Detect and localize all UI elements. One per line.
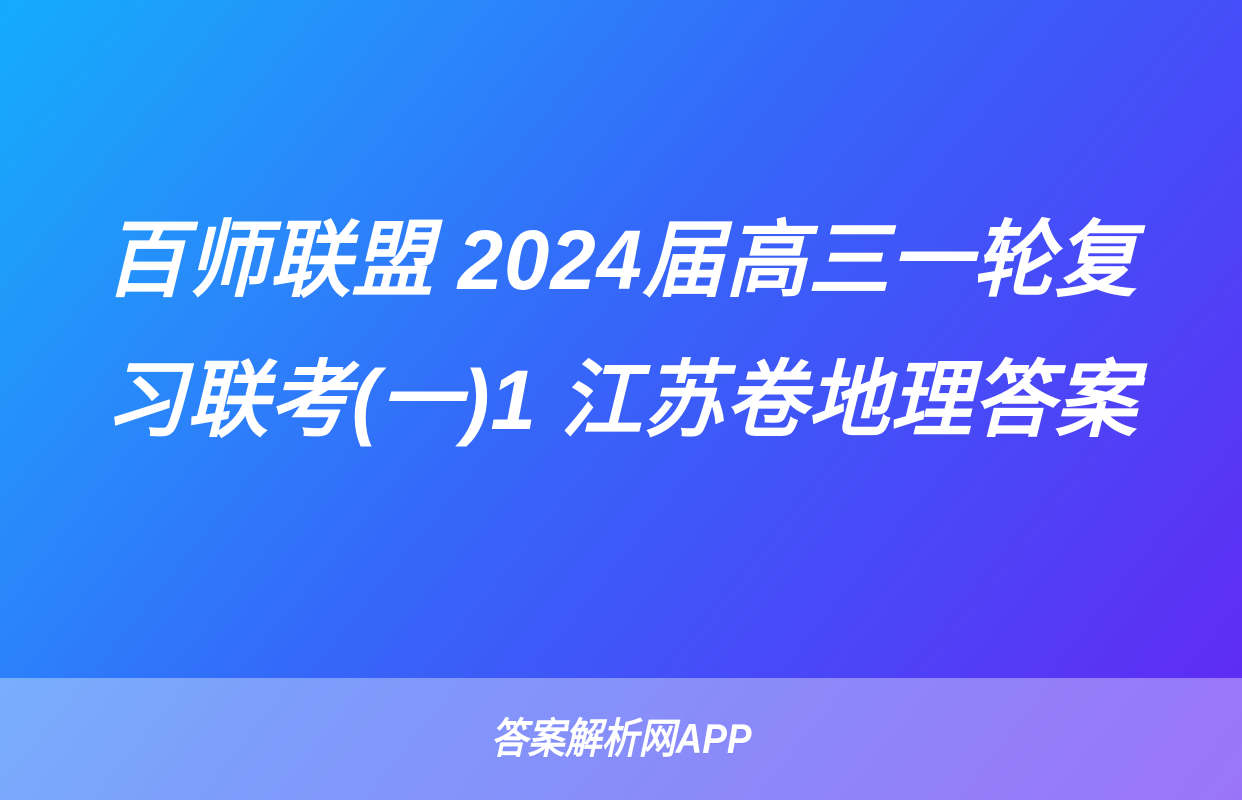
footer-watermark: 答案解析网APP <box>0 678 1242 800</box>
poster-canvas: 百师联盟 2024届高三一轮复习联考(一)1 江苏卷地理答案 答案解析网APP <box>0 0 1242 800</box>
footer-watermark-label: 答案解析网APP <box>491 718 752 760</box>
page-title: 百师联盟 2024届高三一轮复习联考(一)1 江苏卷地理答案 <box>97 190 1145 470</box>
headline-block: 百师联盟 2024届高三一轮复习联考(一)1 江苏卷地理答案 <box>0 0 1242 660</box>
